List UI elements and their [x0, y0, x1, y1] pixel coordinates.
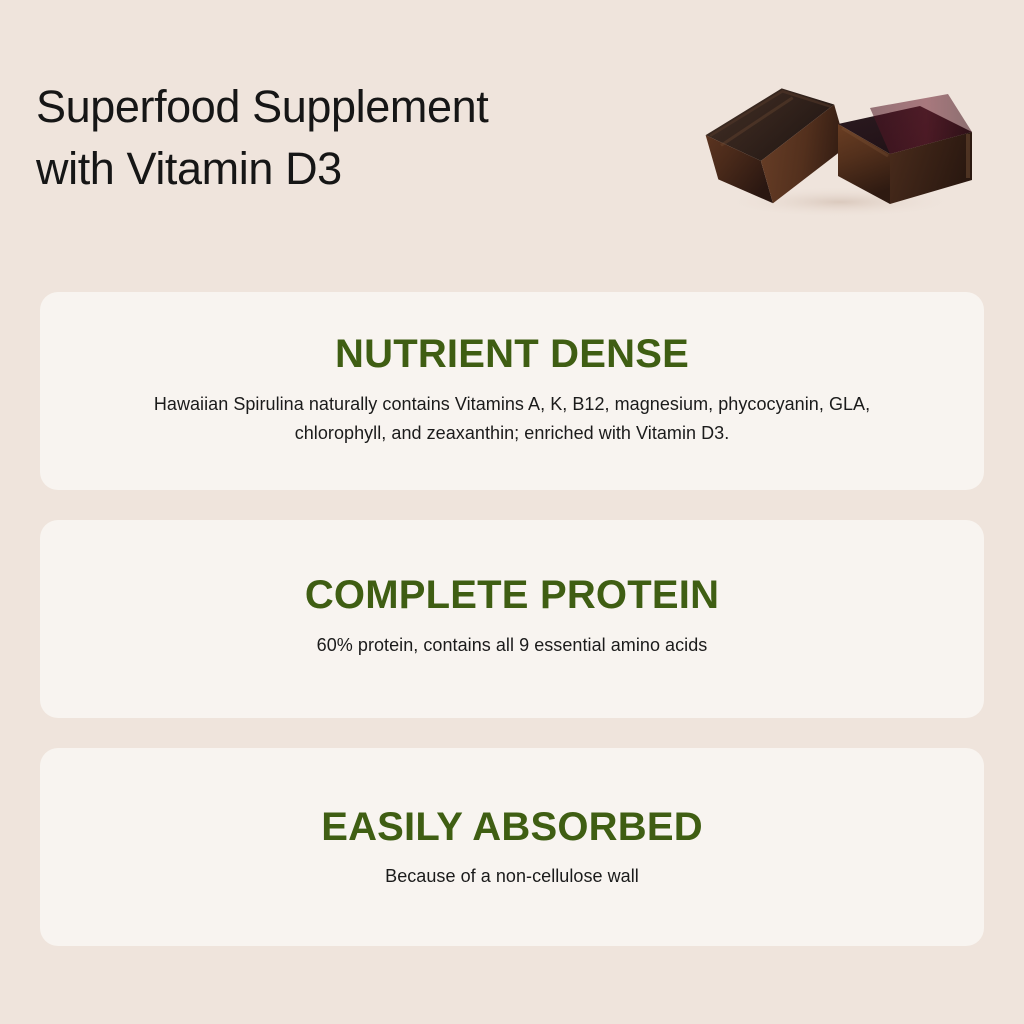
feature-card-nutrient-dense: NUTRIENT DENSE Hawaiian Spirulina natura… — [40, 292, 984, 490]
feature-heading-easily-absorbed: EASILY ABSORBED — [321, 805, 703, 849]
page-header: Superfood Supplement with Vitamin D3 — [0, 0, 1024, 266]
product-feature-page: Superfood Supplement with Vitamin D3 — [0, 0, 1024, 1024]
feature-heading-nutrient-dense: NUTRIENT DENSE — [335, 332, 689, 376]
page-title: Superfood Supplement with Vitamin D3 — [36, 76, 686, 200]
spirulina-chew-cubes-photo — [690, 44, 990, 224]
feature-body-easily-absorbed: Because of a non-cellulose wall — [325, 862, 699, 891]
feature-card-complete-protein: COMPLETE PROTEIN 60% protein, contains a… — [40, 520, 984, 718]
feature-body-nutrient-dense: Hawaiian Spirulina naturally contains Vi… — [57, 390, 967, 448]
feature-heading-complete-protein: COMPLETE PROTEIN — [305, 573, 719, 617]
feature-card-list: NUTRIENT DENSE Hawaiian Spirulina natura… — [40, 292, 984, 946]
feature-body-complete-protein: 60% protein, contains all 9 essential am… — [257, 631, 768, 660]
feature-card-easily-absorbed: EASILY ABSORBED Because of a non-cellulo… — [40, 748, 984, 946]
